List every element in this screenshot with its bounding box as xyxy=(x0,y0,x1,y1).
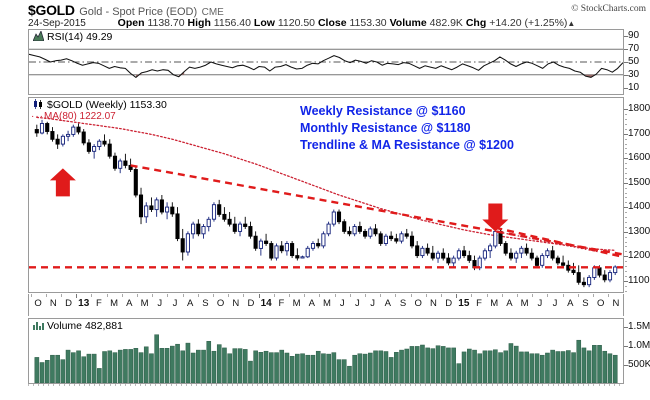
x-axis-label: M xyxy=(323,298,331,309)
x-axis-tick xyxy=(547,294,548,297)
volume-panel-label: Volume 482,881 xyxy=(33,320,123,332)
price-axis-minor-tick xyxy=(625,276,627,277)
x-axis-label: A xyxy=(309,298,315,309)
price-axis-minor-tick xyxy=(625,266,627,267)
price-axis-label: 1400 xyxy=(628,201,650,212)
price-axis-minor-tick xyxy=(625,188,627,189)
volume-axis-label: 1.5M xyxy=(628,321,650,332)
x-axis-tick xyxy=(137,294,138,297)
price-axis-minor-tick xyxy=(625,261,627,262)
stockcharts-credit: © StockCharts.com xyxy=(571,4,646,14)
x-axis-label: S xyxy=(202,298,208,309)
x-axis-label: J xyxy=(173,298,178,309)
x-axis-label: J xyxy=(355,298,360,309)
x-axis-label: O xyxy=(597,298,604,309)
quote-date: 24-Sep-2015 xyxy=(28,18,86,29)
x-axis-tick xyxy=(274,294,275,297)
price-axis-minor-tick xyxy=(625,148,627,149)
price-axis-tick xyxy=(624,109,628,110)
price-axis-tick xyxy=(624,183,628,184)
price-axis-label: 1200 xyxy=(628,250,650,261)
price-axis-minor-tick xyxy=(625,124,627,125)
open-value: 1138.70 xyxy=(147,17,184,29)
ma80-dots-icon: ··· xyxy=(31,111,44,122)
x-axis-tick xyxy=(411,294,412,297)
price-axis-minor-tick xyxy=(625,193,627,194)
x-axis-tick xyxy=(563,294,564,297)
price-axis-minor-tick xyxy=(625,291,627,292)
price-axis-minor-tick xyxy=(625,246,627,247)
price-axis-tick xyxy=(624,207,628,208)
rsi-axis-label: 90 xyxy=(628,30,639,41)
price-axis-label: 1100 xyxy=(628,275,650,286)
x-axis-tick xyxy=(228,294,229,297)
price-axis-label: 1700 xyxy=(628,128,650,139)
bearish-arrow-down-icon xyxy=(482,203,508,231)
x-axis-label: A xyxy=(506,298,512,309)
price-axis-tick xyxy=(624,232,628,233)
x-axis-tick xyxy=(167,294,168,297)
x-axis-tick xyxy=(243,294,244,297)
x-axis-tick xyxy=(152,294,153,297)
x-axis-tick xyxy=(91,294,92,297)
x-axis-label: D xyxy=(445,298,452,309)
ma80-legend: ···MA(80) 1222.07 xyxy=(31,111,116,122)
price-axis-minor-tick xyxy=(625,217,627,218)
price-axis-minor-tick xyxy=(625,168,627,169)
price-axis-minor-tick xyxy=(625,227,627,228)
x-axis-tick xyxy=(289,294,290,297)
x-axis-label: N xyxy=(232,298,239,309)
x-axis-label: O xyxy=(415,298,422,309)
x-axis-label: A xyxy=(567,298,573,309)
volume-axis-label: 1.0M xyxy=(628,340,650,351)
x-axis-tick xyxy=(198,294,199,297)
candlestick-icon xyxy=(33,99,44,109)
x-axis-label: M xyxy=(521,298,529,309)
volume-axis-tick xyxy=(624,365,628,366)
price-axis-minor-tick xyxy=(625,119,627,120)
x-axis-label: O xyxy=(217,298,224,309)
change-arrow-icon: ▲ xyxy=(567,19,575,28)
rsi-label-text: RSI(14) 49.29 xyxy=(47,31,112,43)
close-label: Close xyxy=(318,17,347,29)
x-axis-label: N xyxy=(612,298,619,309)
high-value: 1156.40 xyxy=(214,17,251,29)
x-axis-label: N xyxy=(430,298,437,309)
x-axis-tick xyxy=(456,294,457,298)
x-axis-tick xyxy=(259,294,260,298)
change-value: +14.20 (+1.25%) xyxy=(489,17,567,29)
rsi-panel-label: RSI(14) 49.29 xyxy=(33,31,112,43)
volume-label: Volume xyxy=(390,17,427,29)
x-axis-tick xyxy=(578,294,579,297)
price-axis-minor-tick xyxy=(625,202,627,203)
x-axis-label: F xyxy=(278,298,284,309)
x-axis-label: O xyxy=(34,298,41,309)
price-axis-label: 1800 xyxy=(628,103,650,114)
price-axis-minor-tick xyxy=(625,139,627,140)
price-axis-minor-tick xyxy=(625,163,627,164)
price-axis-label: 1500 xyxy=(628,177,650,188)
x-axis-label: M xyxy=(490,298,498,309)
x-axis-label: M xyxy=(293,298,301,309)
price-axis-label: 1300 xyxy=(628,226,650,237)
x-axis-label: J xyxy=(340,298,345,309)
x-axis-tick xyxy=(107,294,108,297)
price-axis-tick xyxy=(624,134,628,135)
x-axis-tick xyxy=(76,294,77,298)
price-axis-minor-tick xyxy=(625,251,627,252)
x-axis-tick xyxy=(593,294,594,297)
low-value: 1120.50 xyxy=(278,17,315,29)
rsi-axis-tick xyxy=(624,88,628,89)
volume-axis-tick xyxy=(624,346,628,347)
price-axis-minor-tick xyxy=(625,271,627,272)
rsi-axis-label: 70 xyxy=(628,43,639,54)
price-axis-minor-tick xyxy=(625,286,627,287)
x-axis-label: F xyxy=(96,298,102,309)
ma80-legend-text: MA(80) 1222.07 xyxy=(44,111,116,122)
x-axis-tick xyxy=(183,294,184,297)
volume-value: 482.9K xyxy=(430,17,463,29)
price-axis-tick xyxy=(624,256,628,257)
price-axis-minor-tick xyxy=(625,173,627,174)
price-axis-tick xyxy=(624,281,628,282)
rsi-axis-label: 10 xyxy=(628,82,639,93)
x-axis-tick xyxy=(502,294,503,297)
close-value: 1153.30 xyxy=(349,17,386,29)
price-axis-minor-tick xyxy=(625,153,627,154)
x-axis-label: A xyxy=(385,298,391,309)
volume-x-ticks xyxy=(28,384,624,387)
x-axis-tick xyxy=(319,294,320,297)
price-axis-minor-tick xyxy=(625,212,627,213)
volume-icon xyxy=(33,320,44,330)
price-axis-minor-tick xyxy=(625,222,627,223)
volume-axis-tick xyxy=(624,327,628,328)
x-axis-label: D xyxy=(65,298,72,309)
x-axis-label: A xyxy=(187,298,193,309)
volume-label-text: Volume 482,881 xyxy=(47,320,123,332)
price-panel-label: $GOLD (Weekly) 1153.30 xyxy=(33,99,167,111)
symbol-ticker: $GOLD xyxy=(28,2,75,18)
rsi-axis-tick xyxy=(624,49,628,50)
x-axis-tick xyxy=(61,294,62,297)
x-axis-tick xyxy=(395,294,396,297)
price-axis-minor-tick xyxy=(625,129,627,130)
volume-axis-label: 500K xyxy=(628,359,650,370)
x-axis-tick xyxy=(471,294,472,297)
rsi-panel xyxy=(28,29,624,95)
rsi-plot xyxy=(29,30,623,94)
rsi-axis-tick xyxy=(624,75,628,76)
x-axis-label: J xyxy=(370,298,375,309)
x-axis-label: J xyxy=(537,298,542,309)
x-axis-label: 15 xyxy=(458,298,469,309)
quote-row: 24-Sep-2015 Open 1138.70 High 1156.40 Lo… xyxy=(28,17,575,29)
x-axis-tick xyxy=(608,294,609,297)
x-axis-label: M xyxy=(110,298,118,309)
bullish-arrow-up-icon xyxy=(50,168,76,196)
price-axis-minor-tick xyxy=(625,178,627,179)
resistance-annotation-1: Weekly Resistance @ $1160 xyxy=(300,104,466,118)
x-axis-tick xyxy=(380,294,381,297)
rsi-icon xyxy=(33,31,44,41)
x-axis-label: S xyxy=(582,298,588,309)
price-axis-label: 1600 xyxy=(628,152,650,163)
resistance-annotation-2: Monthly Resistance @ $1180 xyxy=(300,121,471,135)
x-axis-ticks xyxy=(29,294,623,297)
x-axis-tick xyxy=(487,294,488,297)
price-axis-minor-tick xyxy=(625,242,627,243)
x-axis-label: F xyxy=(476,298,482,309)
x-axis-label: M xyxy=(141,298,149,309)
stockcharts-chart: $GOLD Gold - Spot Price (EOD) CME © Stoc… xyxy=(0,0,650,400)
low-label: Low xyxy=(254,17,275,29)
x-axis-tick xyxy=(365,294,366,297)
x-axis-label: J xyxy=(157,298,162,309)
change-label: Chg xyxy=(466,17,486,29)
x-axis-label: N xyxy=(50,298,57,309)
x-axis-tick xyxy=(426,294,427,297)
x-axis: OND13FMAMJJASOND14FMAMJJJASOND15FMAMJJAS… xyxy=(28,294,624,316)
x-axis-tick xyxy=(46,294,47,297)
x-axis-tick xyxy=(441,294,442,297)
rsi-axis-label: 50 xyxy=(628,56,639,67)
price-axis-minor-tick xyxy=(625,144,627,145)
price-label-text: $GOLD (Weekly) 1153.30 xyxy=(47,99,167,111)
rsi-axis-label: 30 xyxy=(628,69,639,80)
x-axis-tick xyxy=(213,294,214,297)
x-axis-label: A xyxy=(126,298,132,309)
x-axis-label: 13 xyxy=(78,298,89,309)
x-axis-label: 14 xyxy=(261,298,272,309)
rsi-axis-tick xyxy=(624,36,628,37)
high-label: High xyxy=(188,17,211,29)
price-axis-minor-tick xyxy=(625,197,627,198)
open-label: Open xyxy=(118,17,145,29)
x-axis-tick xyxy=(304,294,305,297)
rsi-axis-tick xyxy=(624,62,628,63)
x-axis-tick xyxy=(122,294,123,297)
x-axis-tick xyxy=(335,294,336,297)
x-axis-tick xyxy=(31,294,32,297)
price-axis-tick xyxy=(624,158,628,159)
x-axis-tick xyxy=(350,294,351,297)
x-axis-label: D xyxy=(248,298,255,309)
resistance-annotation-3: Trendline & MA Resistance @ $1200 xyxy=(300,138,514,152)
x-axis-label: S xyxy=(400,298,406,309)
x-axis-tick xyxy=(517,294,518,297)
price-axis-minor-tick xyxy=(625,237,627,238)
x-axis-label: J xyxy=(553,298,558,309)
x-axis-tick xyxy=(532,294,533,297)
price-axis-minor-tick xyxy=(625,114,627,115)
